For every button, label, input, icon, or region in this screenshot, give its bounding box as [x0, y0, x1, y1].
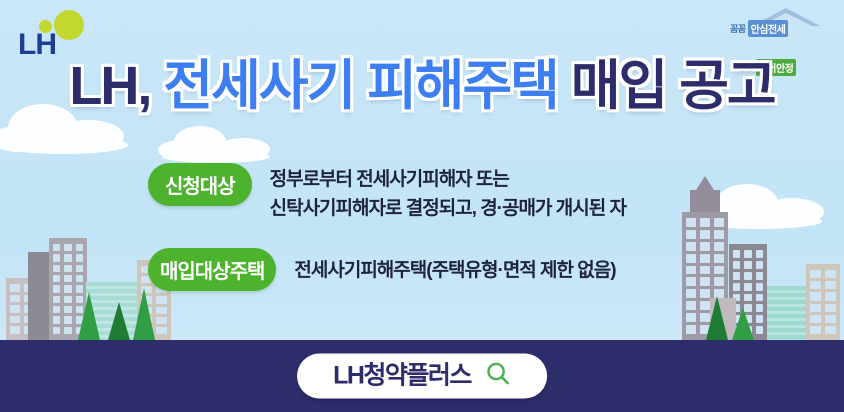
search-icon	[485, 361, 511, 392]
page-title: LH, 전세사기 피해주택 매입 공고	[0, 58, 844, 115]
building	[767, 286, 807, 340]
headline-part-2: 전세사기 피해주택	[163, 56, 557, 116]
lh-cheongyak-plus-button[interactable]: LH청약플러스	[297, 354, 547, 399]
logo-circle-large	[54, 10, 84, 40]
logo-text: LH	[18, 30, 56, 60]
badge-application-target: 신청대상	[148, 163, 252, 206]
building	[806, 264, 840, 340]
info-text-application-target: 정부로부터 전세사기피해자 또는 신탁사기피해자로 결정되고, 경·공매가 개시…	[270, 163, 626, 224]
info-row-application-target: 신청대상 정부로부터 전세사기피해자 또는 신탁사기피해자로 결정되고, 경·공…	[148, 163, 728, 224]
tree-icon	[732, 308, 754, 340]
headline-part-1: LH,	[69, 56, 150, 116]
info-line: 정부로부터 전세사기피해자 또는	[270, 165, 626, 194]
emblem-line-1: 꼼꼼 안심전세	[730, 20, 788, 37]
headline-part-3: 매입 공고	[571, 56, 775, 116]
building	[28, 252, 50, 340]
cta-label: LH청약플러스	[333, 364, 471, 389]
bottom-bar: LH청약플러스	[0, 340, 844, 412]
emblem-line-1-fill: 안심전세	[748, 20, 789, 37]
tree-icon	[78, 292, 100, 340]
info-section: 신청대상 정부로부터 전세사기피해자 또는 신탁사기피해자로 결정되고, 경·공…	[148, 163, 728, 309]
info-line: 신탁사기피해자로 결정되고, 경·공매가 개시된 자	[270, 194, 626, 223]
cloud-mid	[158, 120, 278, 164]
emblem-line-1-plain: 꼼꼼	[730, 22, 746, 35]
tree-icon	[108, 302, 130, 340]
safety-jeonse-emblem: 꼼꼼 안심전세 든든 주거안정	[726, 8, 830, 54]
lh-promotion-banner: LH 꼼꼼 안심전세 든든 주거안정 LH, 전세사기 피해주택 매입 공고	[0, 0, 844, 412]
info-row-target-housing: 매입대상주택 전세사기피해주택(주택유형·면적 제한 없음)	[148, 248, 728, 291]
info-line: 전세사기피해주택(주택유형·면적 제한 없음)	[294, 256, 615, 285]
badge-target-housing: 매입대상주택	[148, 248, 276, 291]
info-text-target-housing: 전세사기피해주택(주택유형·면적 제한 없음)	[294, 248, 615, 285]
